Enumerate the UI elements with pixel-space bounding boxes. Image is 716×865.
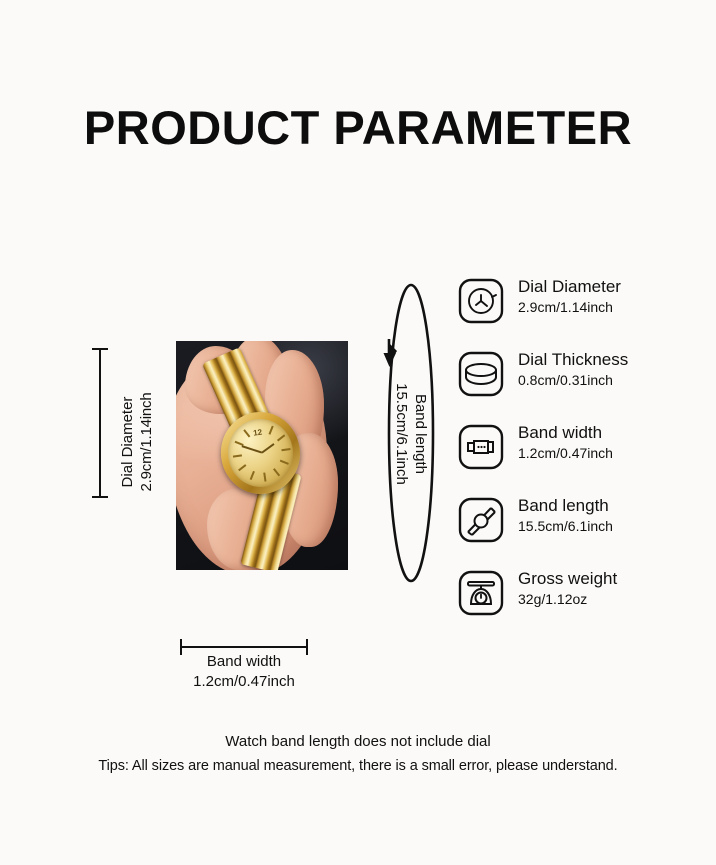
watch-dial-icon <box>458 278 504 324</box>
dial-hour-marker: 12 <box>252 427 262 437</box>
product-parameter-page: PRODUCT PARAMETER 12 <box>0 0 716 865</box>
footer-notes: Watch band length does not include dial … <box>0 730 716 778</box>
dial-tick <box>232 455 241 458</box>
footer-line-1: Watch band length does not include dial <box>0 730 716 754</box>
spec-row-dial-thickness: Dial Thickness 0.8cm/0.31inch <box>458 349 708 422</box>
dial-tick <box>281 448 290 451</box>
spec-label: Dial Diameter <box>518 276 621 298</box>
band-width-caliper-line <box>180 646 308 648</box>
watch-dial: 12 <box>223 415 297 491</box>
spec-row-dial-diameter: Dial Diameter 2.9cm/1.14inch <box>458 276 708 349</box>
dial-hour-hand <box>261 443 274 453</box>
spec-text: Band length 15.5cm/6.1inch <box>518 495 613 536</box>
spec-row-gross-weight: Gross weight 32g/1.12oz <box>458 568 708 641</box>
spec-value: 2.9cm/1.14inch <box>518 298 621 317</box>
spec-label: Band length <box>518 495 613 517</box>
spec-text: Dial Diameter 2.9cm/1.14inch <box>518 276 621 317</box>
product-photo: 12 <box>176 341 348 570</box>
dial-tick <box>243 430 250 438</box>
dial-diameter-caliper-line <box>99 348 101 498</box>
dial-minute-hand <box>241 446 261 454</box>
dial-tick <box>249 471 254 480</box>
dial-tick <box>276 435 284 442</box>
spec-list: Dial Diameter 2.9cm/1.14inch Dial Thickn… <box>458 276 708 641</box>
spec-text: Gross weight 32g/1.12oz <box>518 568 617 609</box>
dial-tick <box>279 460 288 465</box>
kitchen-scale-icon <box>458 570 504 616</box>
spec-text: Dial Thickness 0.8cm/0.31inch <box>518 349 628 390</box>
dial-tick <box>238 465 246 472</box>
spec-row-band-width: Band width 1.2cm/0.47inch <box>458 422 708 495</box>
spec-text: Band width 1.2cm/0.47inch <box>518 422 613 463</box>
page-title: PRODUCT PARAMETER <box>0 100 716 155</box>
disc-thickness-icon <box>458 351 504 397</box>
spec-label: Gross weight <box>518 568 617 590</box>
spec-row-band-length: Band length 15.5cm/6.1inch <box>458 495 708 568</box>
band-length-loop-label: Band length 15.5cm/6.1inch <box>392 349 430 519</box>
loop-label-text: Band length <box>411 349 430 519</box>
dial-tick <box>268 426 273 435</box>
band-length-loop: Band length 15.5cm/6.1inch <box>383 281 439 586</box>
caliper-value-text: 2.9cm/1.14inch <box>137 357 156 527</box>
watch-band-icon <box>458 497 504 543</box>
loop-value-text: 15.5cm/6.1inch <box>392 349 411 519</box>
spec-label: Dial Thickness <box>518 349 628 371</box>
band-width-caliper-label: Band width 1.2cm/0.47inch <box>144 652 344 692</box>
spec-value: 32g/1.12oz <box>518 590 617 609</box>
dial-tick <box>273 468 280 476</box>
caliper-label-text: Band width <box>144 652 344 672</box>
caliper-value-text: 1.2cm/0.47inch <box>144 672 344 692</box>
dial-diameter-caliper-label: Dial Diameter 2.9cm/1.14inch <box>118 357 156 527</box>
spec-value: 1.2cm/0.47inch <box>518 444 613 463</box>
caliper-label-text: Dial Diameter <box>118 357 137 527</box>
spec-value: 15.5cm/6.1inch <box>518 517 613 536</box>
footer-line-2: Tips: All sizes are manual measurement, … <box>0 754 716 778</box>
strap-width-icon <box>458 424 504 470</box>
spec-label: Band width <box>518 422 613 444</box>
spec-value: 0.8cm/0.31inch <box>518 371 628 390</box>
dial-tick <box>263 473 266 482</box>
